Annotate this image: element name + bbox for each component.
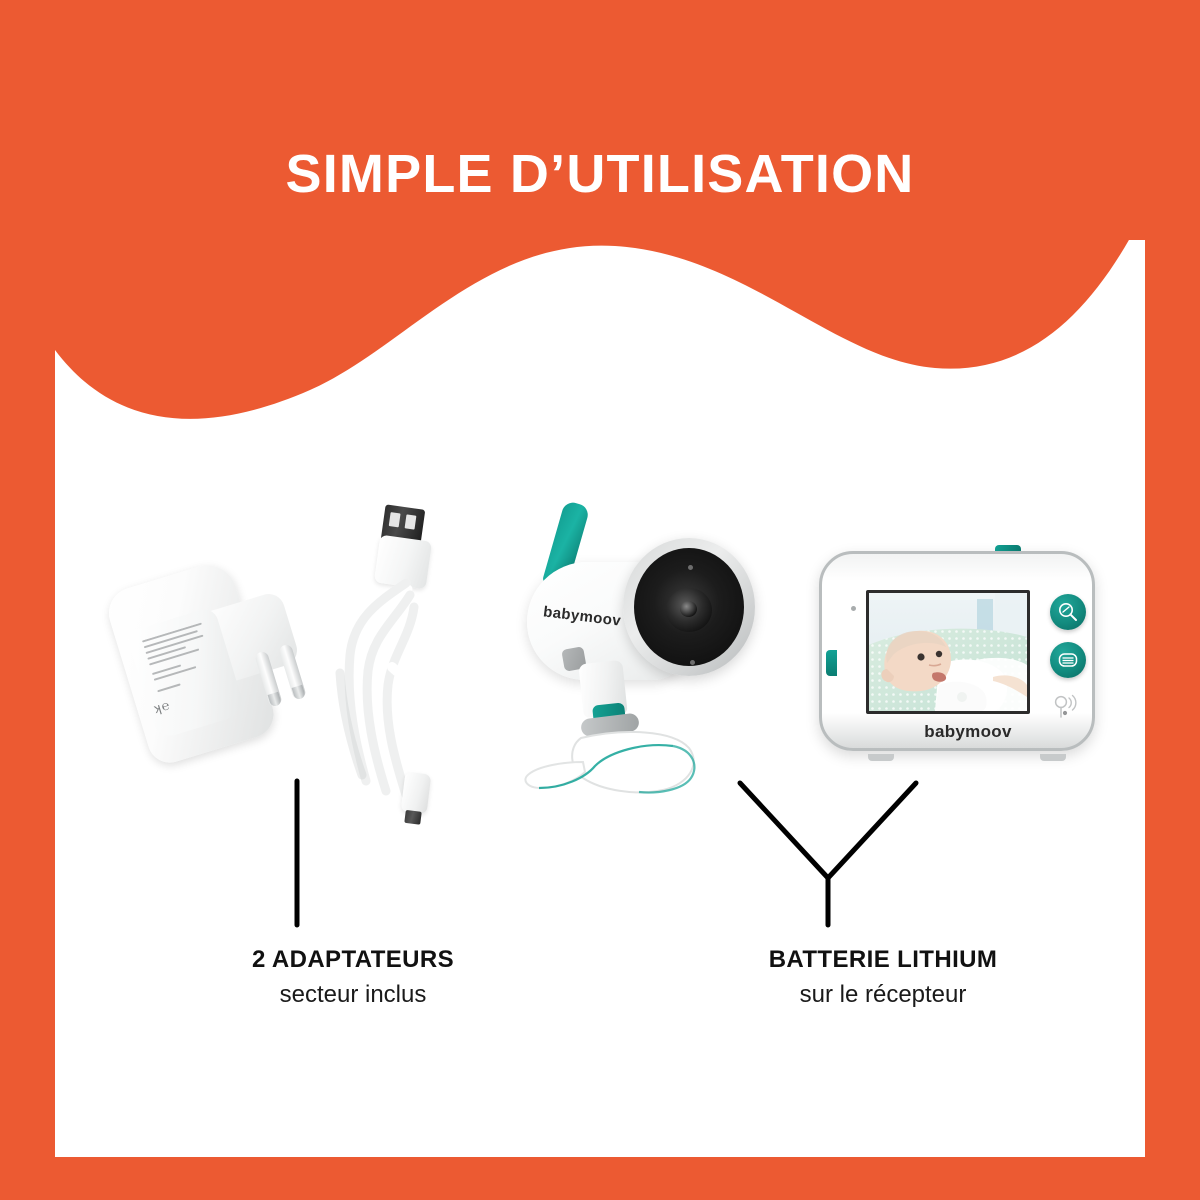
callout-pointers — [55, 240, 1145, 1157]
adapters-callout-subtitle: secteur inclus — [143, 979, 563, 1010]
products-area: ʞ℮ — [55, 240, 1145, 1157]
marketing-slide: SIMPLE D’UTILISATION ʞ℮ — [0, 0, 1200, 1200]
battery-callout-subtitle: sur le récepteur — [628, 979, 1138, 1010]
page-title: SIMPLE D’UTILISATION — [0, 143, 1200, 205]
adapters-callout: 2 ADAPTATEURS secteur inclus — [143, 945, 563, 1010]
battery-callout: BATTERIE LITHIUM sur le récepteur — [628, 945, 1138, 1010]
battery-pointer-branches — [740, 783, 916, 878]
adapters-callout-title: 2 ADAPTATEURS — [143, 945, 563, 975]
battery-callout-title: BATTERIE LITHIUM — [628, 945, 1138, 975]
